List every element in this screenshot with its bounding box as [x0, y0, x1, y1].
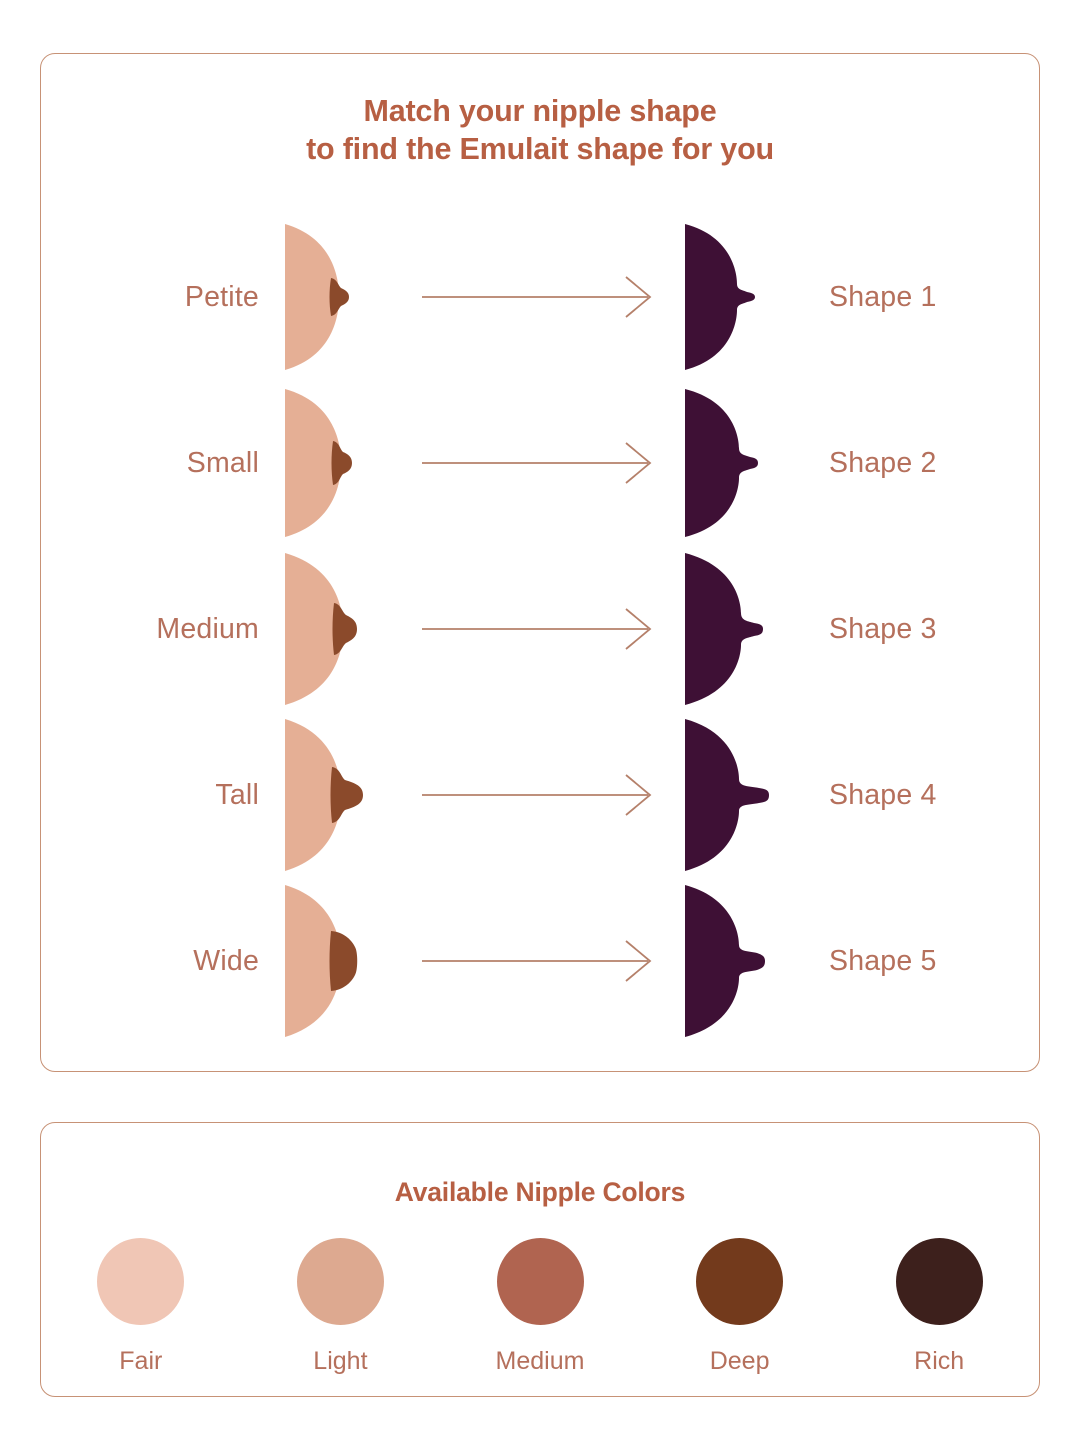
page-title: Match your nipple shape to find the Emul… — [190, 92, 890, 168]
arrow-right-icon — [422, 274, 654, 320]
bottle-nipple-shape-3 — [683, 546, 793, 712]
colors-card-title: Available Nipple Colors — [41, 1123, 1039, 1208]
color-swatch-fair[interactable]: Fair — [41, 1238, 241, 1376]
bottle-nipple-shape-5 — [683, 878, 793, 1044]
swatch-dot — [497, 1238, 584, 1325]
shape-row: Small S — [41, 380, 1039, 546]
shape-row: Medium — [41, 546, 1039, 712]
shape-row: Petite — [41, 214, 1039, 380]
nipple-size-label: Petite — [41, 281, 281, 314]
shape-row: Wide Sh — [41, 878, 1039, 1044]
nipple-size-label: Wide — [41, 945, 281, 978]
arrow-right-icon — [422, 606, 654, 652]
nipple-size-label: Small — [41, 447, 281, 480]
page-title-line-2: to find the Emulait shape for you — [190, 130, 890, 168]
swatch-dot — [297, 1238, 384, 1325]
match-arrow — [393, 712, 683, 878]
swatch-label: Light — [313, 1347, 367, 1376]
shape-row: Tall Sh — [41, 712, 1039, 878]
breast-profile-small — [281, 380, 393, 546]
arrow-right-icon — [422, 440, 654, 486]
color-swatch-light[interactable]: Light — [241, 1238, 441, 1376]
swatch-dot — [97, 1238, 184, 1325]
bottle-nipple-shape-1 — [683, 214, 793, 380]
emulait-shape-label: Shape 5 — [793, 945, 937, 978]
match-arrow — [393, 380, 683, 546]
breast-profile-wide — [281, 878, 393, 1044]
match-arrow — [393, 878, 683, 1044]
emulait-shape-label: Shape 3 — [793, 613, 937, 646]
swatch-label: Fair — [119, 1347, 162, 1376]
emulait-shape-label: Shape 2 — [793, 447, 937, 480]
arrow-right-icon — [422, 938, 654, 984]
emulait-shape-label: Shape 1 — [793, 281, 937, 314]
swatch-label: Deep — [710, 1347, 770, 1376]
color-swatch-medium[interactable]: Medium — [440, 1238, 640, 1376]
nipple-size-label: Tall — [41, 779, 281, 812]
infographic-page: Match your nipple shape to find the Emul… — [0, 0, 1080, 1439]
color-swatch-deep[interactable]: Deep — [640, 1238, 840, 1376]
match-arrow — [393, 546, 683, 712]
nipple-size-label: Medium — [41, 613, 281, 646]
breast-profile-tall — [281, 712, 393, 878]
color-swatch-row: Fair Light Medium Deep Rich — [41, 1208, 1039, 1376]
breast-profile-medium — [281, 546, 393, 712]
emulait-shape-label: Shape 4 — [793, 779, 937, 812]
bottle-nipple-shape-4 — [683, 712, 793, 878]
swatch-dot — [896, 1238, 983, 1325]
page-title-line-1: Match your nipple shape — [190, 92, 890, 130]
shape-match-card: Match your nipple shape to find the Emul… — [40, 53, 1040, 1072]
shape-match-rows: Petite — [41, 214, 1039, 1044]
arrow-right-icon — [422, 772, 654, 818]
color-swatch-rich[interactable]: Rich — [839, 1238, 1039, 1376]
bottle-nipple-shape-2 — [683, 380, 793, 546]
available-colors-card: Available Nipple Colors Fair Light Mediu… — [40, 1122, 1040, 1397]
swatch-label: Medium — [496, 1347, 585, 1376]
swatch-dot — [696, 1238, 783, 1325]
swatch-label: Rich — [914, 1347, 964, 1376]
match-arrow — [393, 214, 683, 380]
breast-profile-petite — [281, 214, 393, 380]
